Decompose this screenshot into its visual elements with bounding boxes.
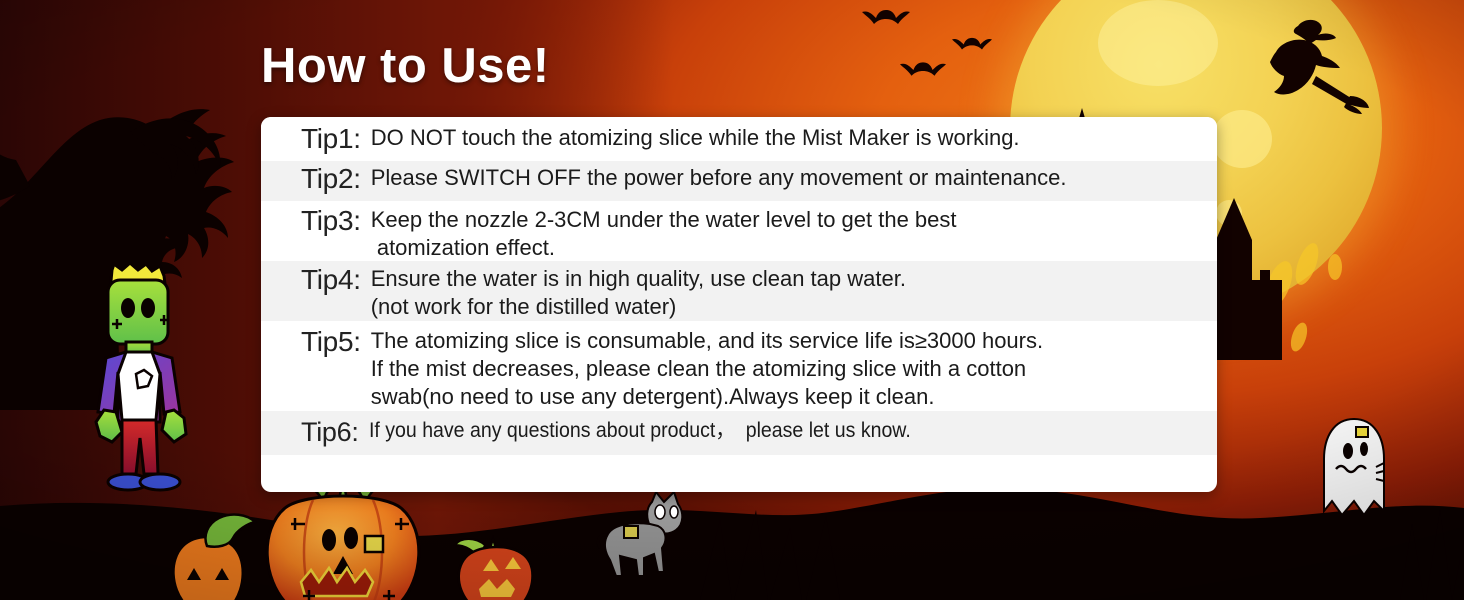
halloween-instruction-banner: How to Use! Tip1: DO NOT touch the atomi… — [0, 0, 1464, 600]
tip-label: Tip1: — [301, 124, 361, 153]
tip-row: Tip2: Please SWITCH OFF the power before… — [261, 161, 1217, 201]
tip-text: If you have any questions about product，… — [369, 418, 911, 445]
tip-text: Please SWITCH OFF the power before any m… — [371, 164, 1067, 192]
tip-row: Tip6: If you have any questions about pr… — [261, 411, 1217, 455]
tip-label: Tip2: — [301, 164, 361, 193]
tip-label: Tip3: — [301, 206, 361, 235]
tip-label: Tip6: — [301, 418, 359, 446]
tip-text: The atomizing slice is consumable, and i… — [371, 327, 1043, 411]
tips-panel: Tip1: DO NOT touch the atomizing slice w… — [261, 117, 1217, 492]
tip-row: Tip1: DO NOT touch the atomizing slice w… — [261, 117, 1217, 161]
tip-label: Tip5: — [301, 327, 361, 356]
tip-label: Tip4: — [301, 265, 361, 294]
tip-text: Ensure the water is in high quality, use… — [371, 265, 906, 321]
page-title: How to Use! — [261, 38, 550, 94]
tip-text: Keep the nozzle 2-3CM under the water le… — [371, 206, 957, 262]
tip-row: Tip5: The atomizing slice is consumable,… — [261, 321, 1217, 411]
tip-text: DO NOT touch the atomizing slice while t… — [371, 124, 1020, 152]
tip-row: Tip4: Ensure the water is in high qualit… — [261, 261, 1217, 321]
tip-row: Tip3: Keep the nozzle 2-3CM under the wa… — [261, 201, 1217, 261]
